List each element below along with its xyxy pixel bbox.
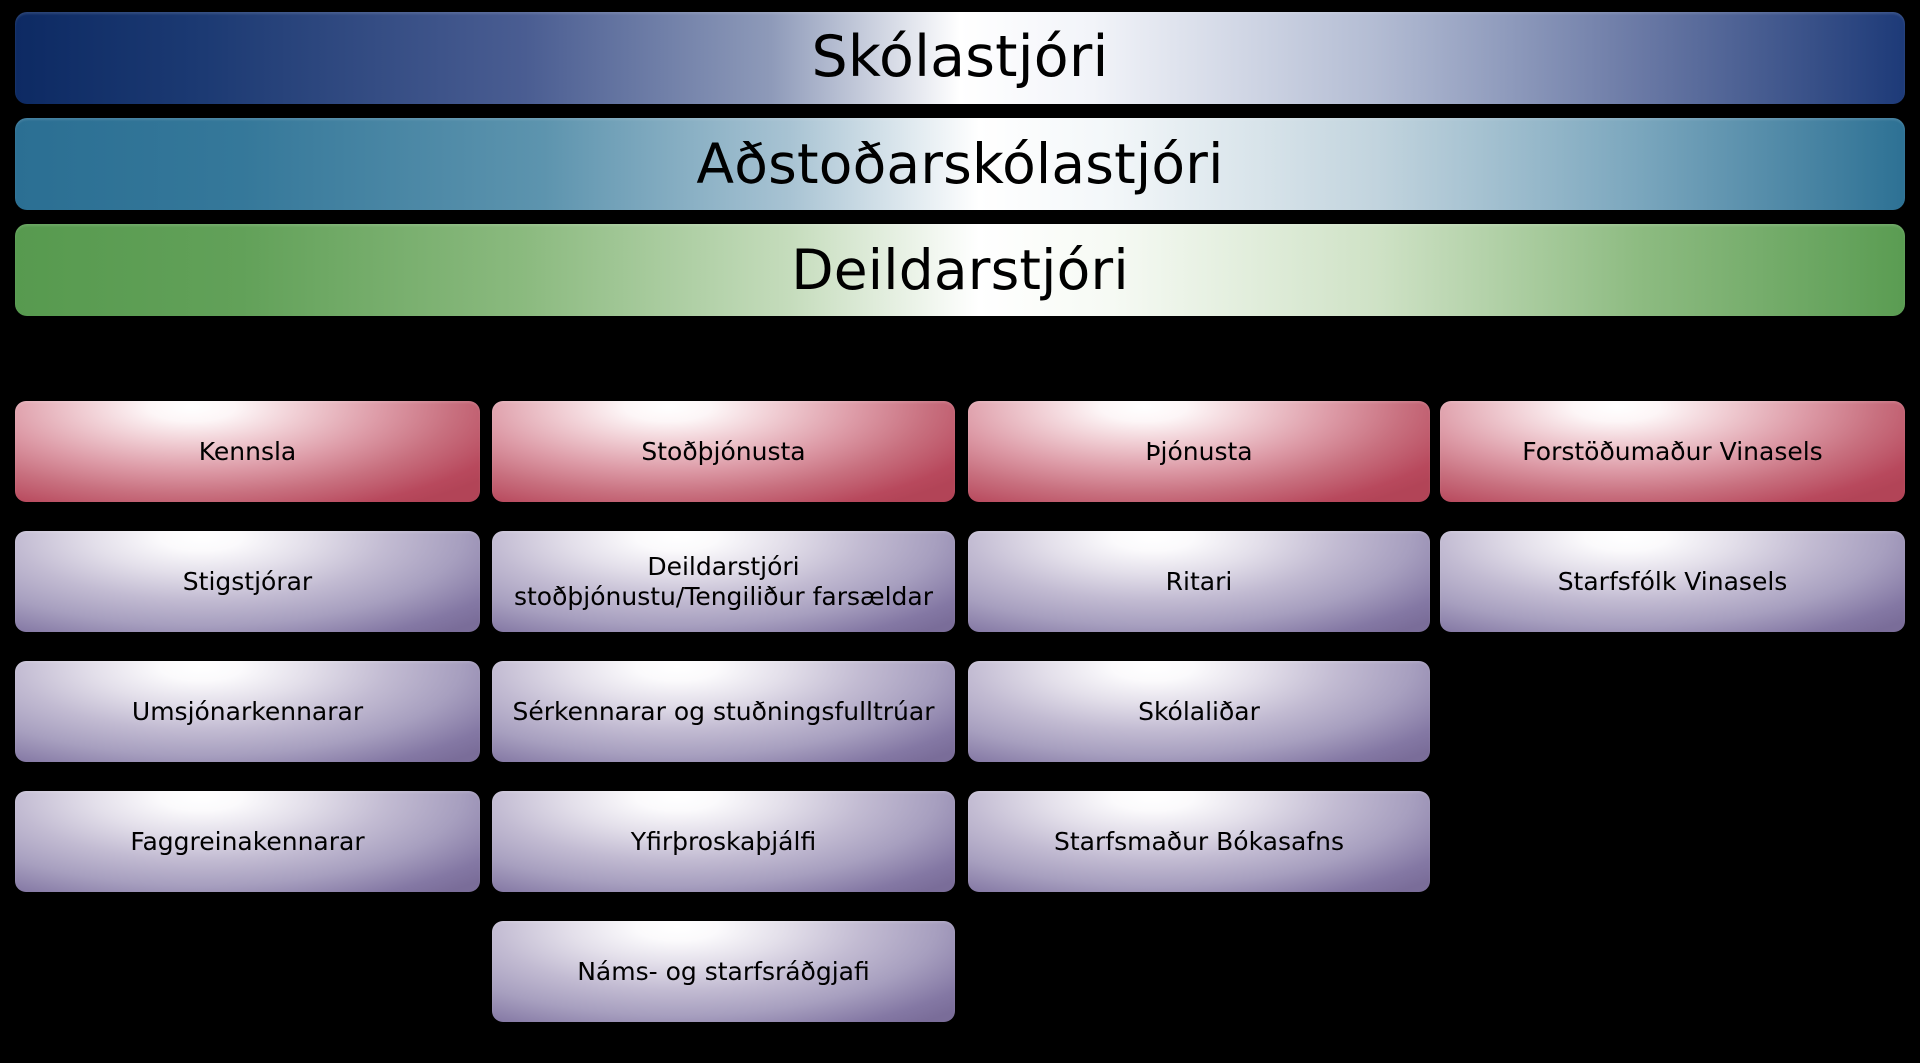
org-node-label: Starfsfólk Vinasels (1450, 567, 1895, 597)
org-node-label: Skólaliðar (978, 697, 1420, 727)
org-node-staff-serkennarar-og-studningsfulltruar[interactable]: Sérkennarar og stuðningsfulltrúar (492, 661, 955, 762)
org-node-label: Yfirþroskaþjálfi (502, 827, 945, 857)
org-node-label: Umsjónarkennarar (25, 697, 470, 727)
org-node-skolastjori[interactable]: Skólastjóri (15, 12, 1905, 104)
org-node-staff-stigstjorar[interactable]: Stigstjórar (15, 531, 480, 632)
org-node-label: Starfsmaður Bókasafns (978, 827, 1420, 857)
org-node-staff-starfsfolk-vinasels[interactable]: Starfsfólk Vinasels (1440, 531, 1905, 632)
org-node-label: Forstöðumaður Vinasels (1450, 437, 1895, 467)
org-chart-canvas: Skólastjóri Aðstoðarskólastjóri Deildars… (0, 0, 1920, 1063)
org-node-label: Ritari (978, 567, 1420, 597)
org-node-deildarstjori[interactable]: Deildarstjóri (15, 224, 1905, 316)
org-node-adstodarskolastjori[interactable]: Aðstoðarskólastjóri (15, 118, 1905, 210)
org-node-label: Kennsla (25, 437, 470, 467)
org-node-department-thjonusta[interactable]: Þjónusta (968, 401, 1430, 502)
org-node-staff-faggreinakennarar[interactable]: Faggreinakennarar (15, 791, 480, 892)
org-node-staff-deildarstjori-stodthjonustu[interactable]: Deildarstjóri stoðþjónustu/Tengiliður fa… (492, 531, 955, 632)
org-node-department-stodthjonusta[interactable]: Stoðþjónusta (492, 401, 955, 502)
org-node-label: Deildarstjóri stoðþjónustu/Tengiliður fa… (502, 552, 945, 612)
org-node-label: Aðstoðarskólastjóri (25, 132, 1895, 197)
org-node-label: Þjónusta (978, 437, 1420, 467)
org-node-staff-yfirthroskathjalfi[interactable]: Yfirþroskaþjálfi (492, 791, 955, 892)
org-node-staff-ritari[interactable]: Ritari (968, 531, 1430, 632)
org-node-label: Sérkennarar og stuðningsfulltrúar (502, 697, 945, 727)
org-node-label: Skólastjóri (25, 24, 1895, 91)
org-node-label: Stigstjórar (25, 567, 470, 597)
org-node-staff-skolalidar[interactable]: Skólaliðar (968, 661, 1430, 762)
org-node-staff-umsjonarkennarar[interactable]: Umsjónarkennarar (15, 661, 480, 762)
org-node-staff-nams-og-starfsradgjafi[interactable]: Náms- og starfsráðgjafi (492, 921, 955, 1022)
org-node-label: Náms- og starfsráðgjafi (502, 957, 945, 987)
org-node-department-forstodumadur-vinasels[interactable]: Forstöðumaður Vinasels (1440, 401, 1905, 502)
org-node-label: Stoðþjónusta (502, 437, 945, 467)
org-node-label: Deildarstjóri (25, 238, 1895, 303)
org-node-staff-starfsmadur-bokasafns[interactable]: Starfsmaður Bókasafns (968, 791, 1430, 892)
org-node-label: Faggreinakennarar (25, 827, 470, 857)
org-node-department-kennsla[interactable]: Kennsla (15, 401, 480, 502)
